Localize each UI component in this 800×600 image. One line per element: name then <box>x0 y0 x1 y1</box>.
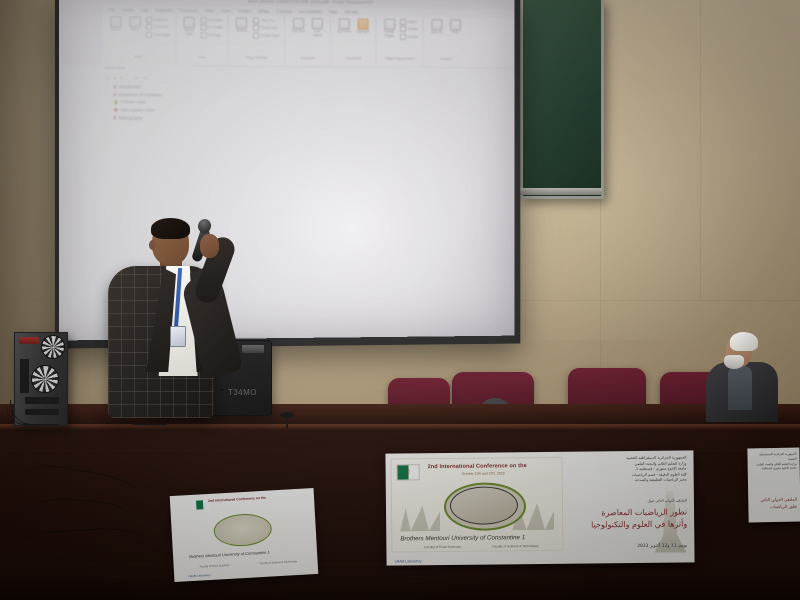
tool-edit-object[interactable]: Edit Object <box>309 18 325 37</box>
menu-item-accessibility[interactable]: Accessibility <box>299 9 322 14</box>
small-banner-laboratory: LMAM Laboratory <box>188 573 210 578</box>
menu-item-home[interactable]: Home <box>122 7 133 12</box>
app-left-ribbon-spill <box>59 0 104 65</box>
ribbon-group-label: Comment <box>336 56 371 60</box>
right-banner-arabic-header: الجمهورية الجزائرية الديمقراطية الشعبية … <box>752 452 796 472</box>
fit-width-icon <box>200 17 206 23</box>
small-banner-faculty-1: Faculty of Exact Sciences <box>200 564 230 569</box>
algeria-flag-icon: ☽ <box>397 464 420 480</box>
small-banner-emblem <box>213 512 273 547</box>
highlight-icon <box>357 19 368 30</box>
ribbon-group-assistant: Edit Text Edit Object Assistant <box>285 16 331 66</box>
banner-arabic-header: الجمهورية الجزائرية الديمقراطية الشعبية … <box>558 455 686 484</box>
menu-item-view[interactable]: View <box>205 8 214 13</box>
tool-snapshot[interactable]: Snapshot <box>146 17 170 23</box>
tool-edit-text[interactable]: Edit Text <box>290 18 306 34</box>
menu-item-file[interactable]: File <box>108 7 115 12</box>
collapse-icon[interactable]: ▾ <box>120 75 122 80</box>
tower-front-fan-icon <box>31 365 59 393</box>
snapshot-icon <box>146 17 152 23</box>
ribbon-group-label: Assistant <box>290 56 325 60</box>
banner-university: Brothers Mentouri University of Constant… <box>400 534 525 542</box>
rearrange-icon <box>146 32 152 38</box>
small-banner-title: 2nd International Conference on the <box>208 496 266 503</box>
tool-actual-size[interactable]: Actual Size <box>181 17 197 36</box>
chalkboard-chalk-rail <box>518 188 602 195</box>
bookmark-label: Convex case <box>120 100 145 105</box>
rotate-pages-icon <box>384 19 395 30</box>
conference-banner-small: 2nd International Conference on the Brot… <box>170 488 319 582</box>
typewriter-icon <box>339 18 350 29</box>
ribbon-group-page-organization: Rotate Pages Insert Delete Extract Page … <box>377 17 424 67</box>
font-smaller-icon[interactable]: A↓ <box>143 75 148 80</box>
bookmark-item-bibliography[interactable]: + Bibliography <box>102 114 189 122</box>
zoom-value-display[interactable]: 138.17% <box>253 18 279 24</box>
banner-faculty-1: Faculty of Exact Sciences <box>424 545 461 549</box>
rotate-left-icon <box>253 25 259 31</box>
menu-item-comment[interactable]: Comment <box>180 8 198 13</box>
attendee-beard <box>724 355 744 369</box>
small-banner-faculty-2: Faculty of Science & Technology <box>260 560 298 565</box>
twisty-icon[interactable]: + <box>107 116 110 120</box>
bookmarks-toolbar[interactable]: ▢ ▸ ▾ ⋮ A↑ A↓ <box>102 73 189 84</box>
delete-icon <box>400 26 406 32</box>
ribbon-group-label: Tools <box>107 55 170 59</box>
bookmark-icon[interactable]: ▢ <box>106 75 110 80</box>
fit-visible-icon <box>200 25 206 31</box>
ribbon-group-label: Page Display <box>234 56 280 60</box>
tool-clipboard[interactable]: Clipboard <box>146 24 170 30</box>
menu-item-share[interactable]: Share <box>258 9 269 14</box>
ribbon-group-view: Actual Size Fit Width Fit Visible Fit Pa… <box>176 15 229 66</box>
ribbon-group-label: View <box>181 55 223 59</box>
banner-laboratory: LMAM Laboratory <box>395 559 422 563</box>
presenter-ear <box>149 240 156 250</box>
twisty-icon[interactable]: − <box>107 93 110 97</box>
ribbon-group-tools: Select Hand Snapshot Clipboard Rearrange… <box>102 14 176 65</box>
conference-banner-main: ☽ 2nd International Conference on the Oc… <box>385 450 694 565</box>
small-banner-university: Brothers Mentouri University of Constant… <box>189 550 270 559</box>
tool-select[interactable]: Select <box>107 16 123 32</box>
tool-reflow[interactable]: Reflow <box>234 17 250 33</box>
tool-rotate-right[interactable]: Rotate Right <box>253 32 279 38</box>
tool-print[interactable]: Print <box>448 19 464 35</box>
edit-object-icon <box>312 18 323 29</box>
tool-fit-width[interactable]: Fit Width <box>200 17 222 23</box>
banner-logo-panel: ☽ 2nd International Conference on the Oc… <box>390 457 563 553</box>
edit-text-icon <box>293 18 304 29</box>
options-icon[interactable]: ⋮ <box>126 75 130 80</box>
hand-icon <box>129 17 140 28</box>
menu-item-connect[interactable]: Connect <box>277 9 293 14</box>
attendee-shirt <box>728 366 752 410</box>
cursor-icon <box>110 16 121 27</box>
chalkboard <box>520 0 604 199</box>
tool-highlight[interactable]: Highlight <box>355 19 371 35</box>
bridge-illustration-icon <box>400 503 440 531</box>
font-bigger-icon[interactable]: A↑ <box>135 75 140 80</box>
bookmark-label: Existence of Solutions <box>119 92 162 97</box>
bookmarks-pane[interactable]: Bookmarks ▢ ▸ ▾ ⋮ A↑ A↓ + Introduction − <box>102 65 190 66</box>
tool-delete[interactable]: Delete <box>400 26 418 32</box>
tool-rotate-pages[interactable]: Rotate Pages <box>382 19 398 38</box>
menu-item-edit[interactable]: Edit <box>141 8 148 13</box>
menu-item-tellme[interactable]: Tell me <box>344 10 357 15</box>
menu-item-help[interactable]: Help <box>329 9 338 14</box>
bookmark-square-icon <box>113 93 116 96</box>
tower-top-panel <box>19 337 39 344</box>
insert-icon <box>400 19 406 25</box>
ribbon-group-label: Convert <box>429 57 463 61</box>
tower-top-fan-icon <box>41 335 65 359</box>
monitor-sticker-text: T34MO <box>228 388 257 397</box>
ribbon-group-comment: Typewriter Highlight Comment <box>331 16 377 66</box>
rotate-right-icon <box>253 32 259 38</box>
tool-typewriter[interactable]: Typewriter <box>336 18 352 34</box>
right-banner-arabic-title: الملتقى الدولي الثاني تطور الرياضيات <box>753 497 797 510</box>
ribbon-group-page-display: Reflow 138.17% Rotate Left Rotate Right … <box>229 15 286 66</box>
bookmark-square-icon <box>114 101 117 104</box>
tool-hand[interactable]: Hand <box>127 16 143 32</box>
conference-banner-right: الجمهورية الجزائرية الديمقراطية الشعبية … <box>747 448 800 523</box>
ribbon-group-label: Page Organization <box>382 57 419 61</box>
ribbon-toolbar[interactable]: Select Hand Snapshot Clipboard Rearrange… <box>102 14 514 68</box>
banner-date-line: October 11th and 12th, 2023 <box>462 471 505 475</box>
reflow-icon <box>236 18 247 29</box>
banner-arabic-title: تطور الرياضيات المعاصرة وأثرها في العلوم… <box>559 506 687 531</box>
bookmark-square-icon <box>113 116 116 119</box>
tool-rotate-left[interactable]: Rotate Left <box>253 25 279 31</box>
bookmark-label: Non-convex case <box>120 107 154 112</box>
extract-icon <box>400 34 406 40</box>
expand-icon[interactable]: ▸ <box>114 75 116 80</box>
actual-size-icon <box>184 17 195 28</box>
banner-faculty-2: Faculty of Science & Technology <box>492 544 538 548</box>
desk-mic-base <box>280 412 294 418</box>
attendee-hair <box>730 332 758 351</box>
presenter-hair <box>151 218 190 239</box>
tool-fit-page[interactable]: Fit Page <box>200 32 222 38</box>
zoom-icon <box>253 18 259 24</box>
menu-item-protect[interactable]: Protect <box>238 8 251 13</box>
banner-conference-title: 2nd International Conference on the <box>428 463 527 470</box>
ribbon-group-convert: Save As Print Convert <box>424 17 468 67</box>
tool-insert[interactable]: Insert <box>400 19 418 25</box>
bookmark-label: Bibliography <box>119 115 143 120</box>
window-title: Mine presen CONSTANTINE 2023.pdf - Foxit… <box>248 0 374 5</box>
bookmark-square-icon <box>113 85 116 88</box>
tool-fit-visible[interactable]: Fit Visible <box>200 25 222 31</box>
save-icon <box>431 19 442 30</box>
monitor-sticker <box>242 345 264 353</box>
print-icon <box>450 19 461 30</box>
clipboard-icon <box>146 24 152 30</box>
menu-item-organize[interactable]: Organize <box>155 8 172 13</box>
fit-page-icon <box>200 32 206 38</box>
tool-save-as[interactable]: Save As <box>429 19 445 35</box>
lecture-hall-photo: Mine presen CONSTANTINE 2023.pdf - Foxit… <box>0 0 800 600</box>
tool-rearrange[interactable]: Rearrange <box>146 32 170 38</box>
presenter-badge <box>170 326 186 347</box>
presenter-hand <box>200 234 219 258</box>
menu-item-form[interactable]: Form <box>221 8 231 13</box>
twisty-icon[interactable]: + <box>107 85 110 89</box>
bookmark-square-icon <box>114 108 117 111</box>
tool-extract[interactable]: Extract <box>400 34 418 40</box>
bookmark-label: Introduction <box>119 84 142 89</box>
